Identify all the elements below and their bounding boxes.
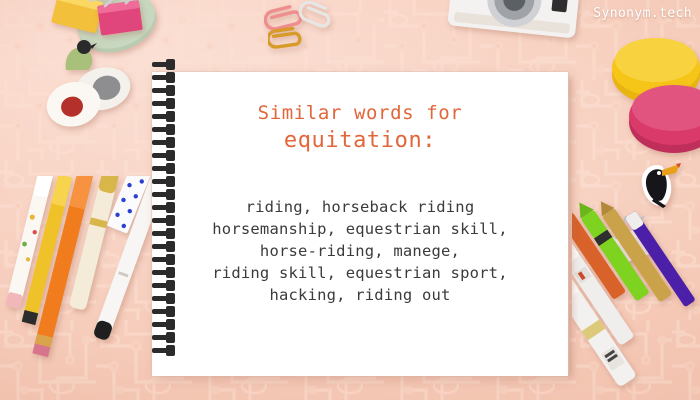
synonym-line: horsemanship, equestrian skill, xyxy=(212,218,508,240)
headword: equitation: xyxy=(258,126,463,156)
synonym-line: horse-riding, manege, xyxy=(212,240,508,262)
synonym-list: riding, horseback riding horsemanship, e… xyxy=(212,196,508,306)
crayons-and-markers-group xyxy=(572,196,700,400)
title-prefix: Similar words for xyxy=(258,100,463,126)
paperclip-gold xyxy=(268,24,312,52)
camera-white xyxy=(440,0,590,50)
macaron-pink xyxy=(620,74,700,156)
brand-watermark: Synonym.tech xyxy=(593,6,692,21)
eraser-pair xyxy=(38,58,142,134)
pencils-and-pens-group xyxy=(0,176,166,400)
synonym-line: hacking, riding out xyxy=(212,284,508,306)
page-title: Similar words for equitation: xyxy=(258,100,463,156)
synonym-line: riding, horseback riding xyxy=(212,196,508,218)
synonym-line: riding skill, equestrian sport, xyxy=(212,262,508,284)
page-content: Similar words for equitation: riding, ho… xyxy=(152,72,568,376)
screenshot-root: Similar words for equitation: riding, ho… xyxy=(0,0,700,400)
